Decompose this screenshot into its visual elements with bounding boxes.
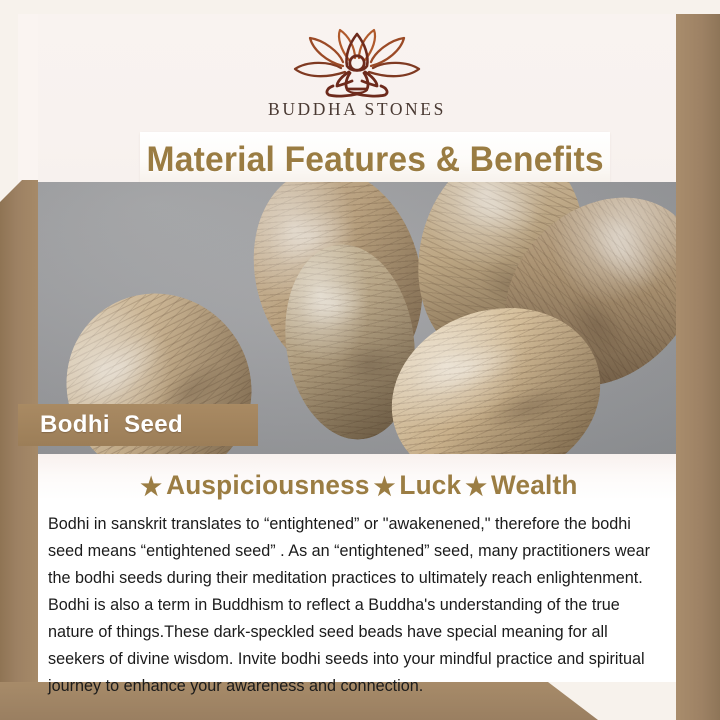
benefit-auspiciousness: Auspiciousness <box>166 470 370 500</box>
description-paragraph: Bodhi in sanskrit translates to “entight… <box>38 511 676 700</box>
brand-name: BUDDHA STONES <box>268 99 446 120</box>
product-info-poster: BUDDHA STONES Material Features & Benefi… <box>0 0 720 720</box>
star-icon: ★ <box>465 472 487 502</box>
star-icon: ★ <box>140 472 162 502</box>
benefits-headline: ★Auspiciousness★Luck★Wealth <box>48 454 667 502</box>
lotus-meditation-icon <box>283 28 431 98</box>
header-section: BUDDHA STONES Material Features & Benefi… <box>38 14 676 182</box>
frame-right-band <box>676 14 720 720</box>
benefit-wealth: Wealth <box>491 470 578 500</box>
brand-logo: BUDDHA STONES <box>38 28 676 128</box>
star-icon: ★ <box>374 472 396 502</box>
photo-caption-label: Bodhi Seed <box>40 411 183 439</box>
page-title: Material Features & Benefits <box>146 142 603 177</box>
benefit-luck: Luck <box>399 470 461 500</box>
content-section: ★Auspiciousness★Luck★Wealth Bodhi in san… <box>38 454 676 682</box>
photo-caption-tag: Bodhi Seed <box>18 404 258 446</box>
title-banner: Material Features & Benefits <box>140 132 610 186</box>
